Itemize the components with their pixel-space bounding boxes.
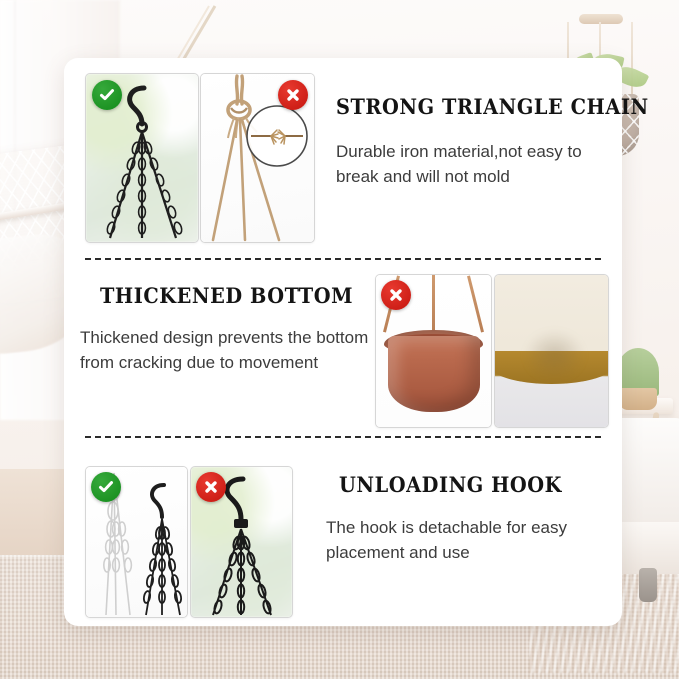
section-title-strong-triangle-chain: STRONG TRIANGLE CHAIN <box>336 95 649 118</box>
section-title-thickened-bottom: THICKENED BOTTOM <box>100 284 353 307</box>
pot-bottom-closeup-photo[interactable] <box>494 274 609 428</box>
section-title-unloading-hook: UNLOADING HOOK <box>339 473 562 496</box>
section-divider <box>85 436 601 438</box>
section-divider <box>85 258 601 260</box>
infographic-stage: STRONG TRIANGLE CHAIN Durable iron mater… <box>0 0 679 679</box>
pot-hanger-rope <box>467 275 484 332</box>
pot-body <box>388 336 480 412</box>
plant-pot <box>619 388 657 410</box>
section-unloading-hook: UNLOADING HOOK The hook is detachable fo… <box>64 448 622 626</box>
check-icon <box>92 80 122 110</box>
section-thickened-bottom: THICKENED BOTTOM Thickened design preven… <box>64 264 622 436</box>
iron-chain-photo[interactable] <box>85 73 199 243</box>
check-icon <box>91 472 121 502</box>
terracotta-pot-photo[interactable] <box>375 274 492 428</box>
section-body-strong-triangle-chain: Durable iron material,not easy to break … <box>336 140 604 189</box>
rope-chain-photo[interactable] <box>200 73 315 243</box>
section-body-unloading-hook: The hook is detachable for easy placemen… <box>326 516 604 565</box>
section-strong-triangle-chain: STRONG TRIANGLE CHAIN Durable iron mater… <box>64 58 622 254</box>
section-body-thickened-bottom: Thickened design prevents the bottom fro… <box>80 326 370 375</box>
feature-card: STRONG TRIANGLE CHAIN Durable iron mater… <box>64 58 622 626</box>
cross-icon <box>381 280 411 310</box>
pot-hanger-rope <box>432 275 435 333</box>
cross-icon <box>278 80 308 110</box>
pot-bottom-shadow <box>524 330 585 382</box>
macrame-mount <box>579 14 623 24</box>
detachable-chain-photo[interactable] <box>85 466 188 618</box>
chair-leg <box>639 568 657 602</box>
cross-icon <box>196 472 226 502</box>
fixed-hook-chain-photo[interactable] <box>190 466 293 618</box>
